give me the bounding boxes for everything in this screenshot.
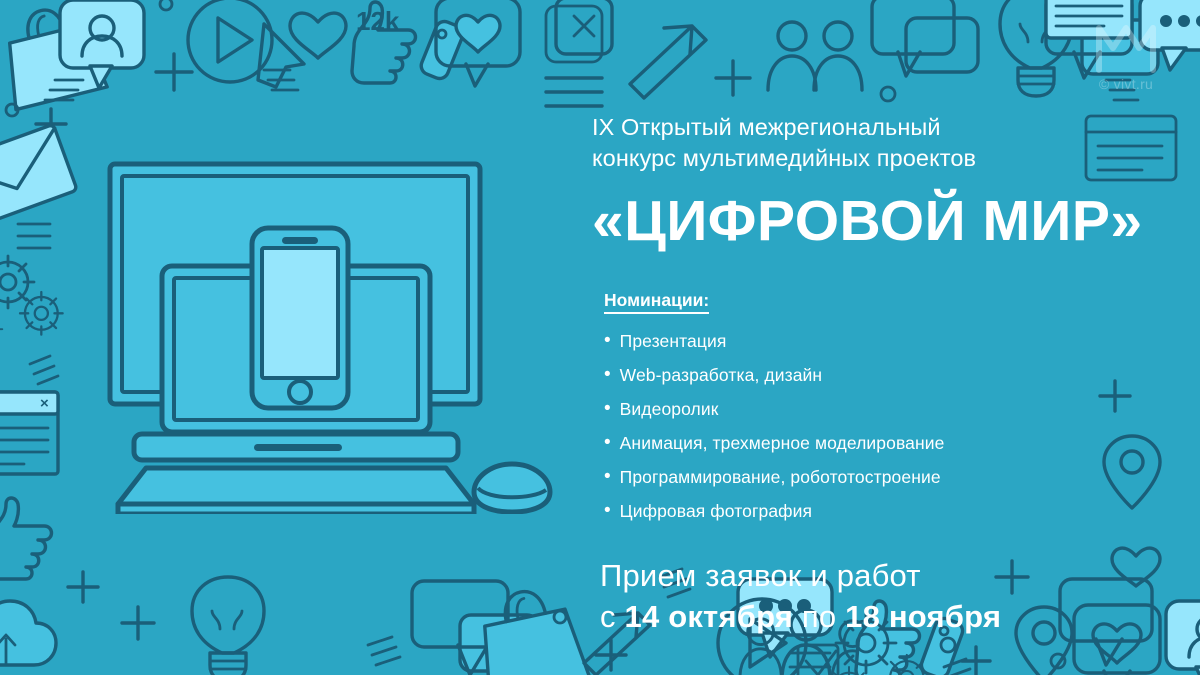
checkbox-icon (798, 645, 838, 675)
plus-icon (596, 640, 626, 670)
nomination-label: Web-разработка, дизайн (620, 365, 823, 386)
smartphone-graphic (252, 228, 348, 408)
browser-window-icon: × (0, 392, 58, 474)
shopping-bag-icon (0, 0, 107, 110)
lightbulb-icon (1000, 0, 1072, 96)
chat-bubble-icon (412, 581, 538, 675)
circle-icon (881, 87, 895, 101)
event-subtitle-line1: IX Открытый межрегиональный (592, 112, 1132, 143)
deadline-date-from: 14 октября (625, 599, 794, 634)
event-subtitle: IX Открытый межрегиональный конкурс муль… (592, 112, 1132, 174)
gears-icon (0, 256, 63, 346)
play-circle-icon (188, 0, 272, 82)
list-item: • Цифровая фотография (604, 501, 1132, 522)
user-bubble-icon (1166, 601, 1200, 675)
shopping-bag-icon (470, 582, 590, 675)
vivt-logo-icon (1095, 18, 1157, 74)
menu-lines-icon (546, 78, 602, 106)
heart-icon (290, 13, 346, 58)
menu-lines-icon (18, 224, 50, 248)
bullet-icon: • (604, 399, 611, 418)
nomination-label: Программирование, робототостроение (620, 467, 941, 488)
deadline-middle: по (793, 599, 845, 634)
nomination-label: Анимация, трехмерное моделирование (620, 433, 945, 454)
bullet-icon: • (604, 433, 611, 452)
nominations-section: Номинации: • Презентация • Web-разработк… (592, 290, 1132, 522)
nominations-heading: Номинации: (604, 290, 709, 314)
heart-count-label: 12k (356, 6, 400, 36)
list-item: • Web-разработка, дизайн (604, 365, 1132, 386)
poster-canvas: 12k (0, 0, 1200, 675)
typing-bubble-icon (1140, 0, 1200, 70)
speed-lines-icon (368, 637, 400, 665)
content-column: IX Открытый межрегиональный конкурс муль… (592, 112, 1132, 635)
thumbs-up-icon (0, 498, 52, 579)
plus-icon (68, 572, 98, 602)
user-bubble-icon (60, 0, 144, 88)
list-item: • Программирование, робототостроение (604, 467, 1132, 488)
mouse-graphic (474, 464, 550, 512)
nomination-label: Презентация (620, 331, 727, 352)
plus-icon (962, 647, 990, 675)
watermark-credit: © vivt.ru (1066, 76, 1186, 92)
list-item: • Презентация (604, 331, 1132, 352)
speed-lines-icon (45, 80, 83, 100)
svg-text:×: × (40, 395, 49, 412)
circle-icon (554, 611, 566, 623)
nomination-label: Цифровая фотография (620, 501, 812, 522)
chat-bubble-icon (1046, 0, 1158, 78)
watermark: © vivt.ru (1066, 18, 1186, 110)
list-item: • Анимация, трехмерное моделирование (604, 433, 1132, 454)
list-item: • Видеоролик (604, 399, 1132, 420)
plus-icon (122, 607, 154, 639)
window-close-icon (546, 0, 612, 62)
speed-lines-icon (944, 659, 970, 675)
speed-lines-icon (264, 70, 298, 90)
bullet-icon: • (604, 467, 611, 486)
bullet-icon: • (604, 365, 611, 384)
nomination-label: Видеоролик (620, 399, 719, 420)
circle-icon (6, 104, 18, 116)
circle-icon (1051, 654, 1065, 668)
envelope-icon (0, 124, 77, 228)
document-window-icon (1046, 0, 1132, 38)
heart-bubble-icon (436, 0, 520, 86)
background-icons-top: 12k (0, 0, 1200, 122)
circle-icon (941, 638, 955, 652)
plus-icon (36, 109, 66, 139)
bullet-icon: • (604, 501, 611, 520)
cursor-arrow-icon (258, 24, 304, 87)
plus-icon (156, 54, 192, 90)
menu-lines-icon (790, 653, 830, 667)
speed-lines-icon (30, 356, 58, 384)
growth-arrow-icon (630, 26, 706, 98)
deadline-block: Прием заявок и работ с 14 октября по 18 … (592, 558, 1132, 635)
devices-illustration (104, 158, 556, 514)
lightbulb-icon (192, 577, 264, 675)
speed-lines-icon (1106, 80, 1138, 100)
deadline-prefix: с (600, 599, 625, 634)
deadline-date-to: 18 ноября (845, 599, 1001, 634)
cloud-upload-icon (0, 601, 56, 665)
thumbs-up-icon (352, 2, 465, 83)
users-icon (768, 22, 862, 90)
deadline-intro: Прием заявок и работ (600, 558, 1132, 594)
chat-bubble-icon (872, 0, 978, 76)
circle-icon (160, 0, 172, 10)
plus-icon (716, 61, 750, 95)
page-title: «ЦИФРОВОЙ МИР» (592, 192, 1132, 251)
bullet-icon: • (604, 331, 611, 350)
event-subtitle-line2: конкурс мультимедийных проектов (592, 143, 1132, 174)
deadline-dates: с 14 октября по 18 ноября (600, 599, 1132, 635)
